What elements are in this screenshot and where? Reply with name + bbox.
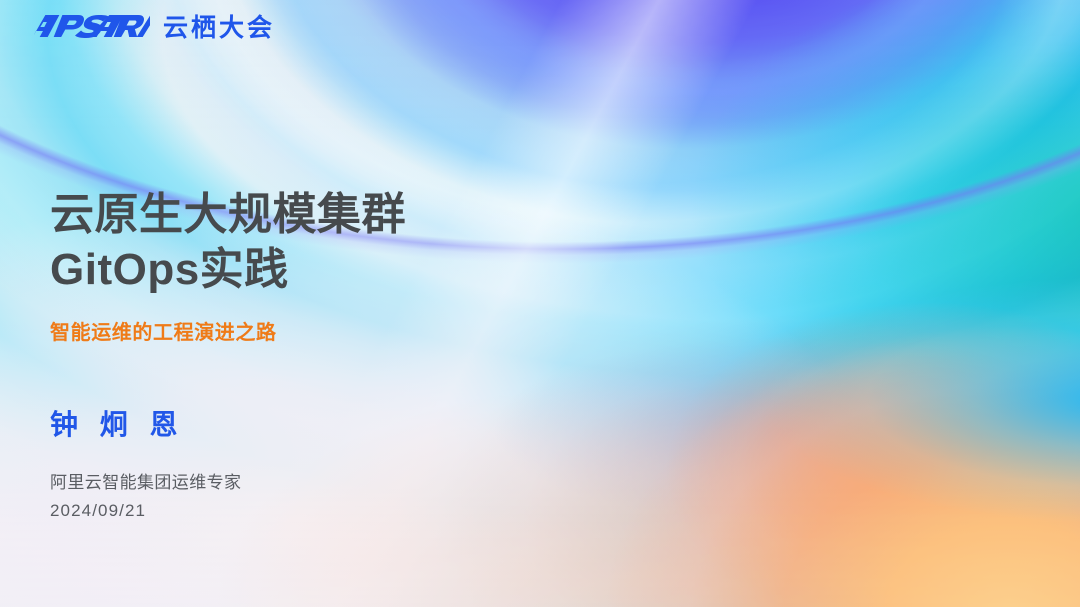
- title-block: 云原生大规模集群 GitOps实践 智能运维的工程演进之路: [50, 188, 670, 346]
- conference-name-cn: 云栖大会: [163, 16, 275, 41]
- speaker-block: 钟 炯 恩 阿里云智能集团运维专家 2024/09/21: [50, 408, 241, 524]
- speaker-name: 钟 炯 恩: [50, 408, 241, 442]
- slide-date: 2024/09/21: [50, 498, 241, 524]
- slide-title: 云原生大规模集群 GitOps实践: [50, 188, 670, 297]
- apsara-wordmark-icon: [34, 12, 150, 45]
- conference-logo: 云栖大会: [34, 12, 275, 45]
- speaker-role: 阿里云智能集团运维专家: [50, 470, 241, 496]
- slide-subtitle: 智能运维的工程演进之路: [50, 320, 670, 346]
- presentation-slide: 云栖大会 云原生大规模集群 GitOps实践 智能运维的工程演进之路 钟 炯 恩…: [0, 0, 1080, 607]
